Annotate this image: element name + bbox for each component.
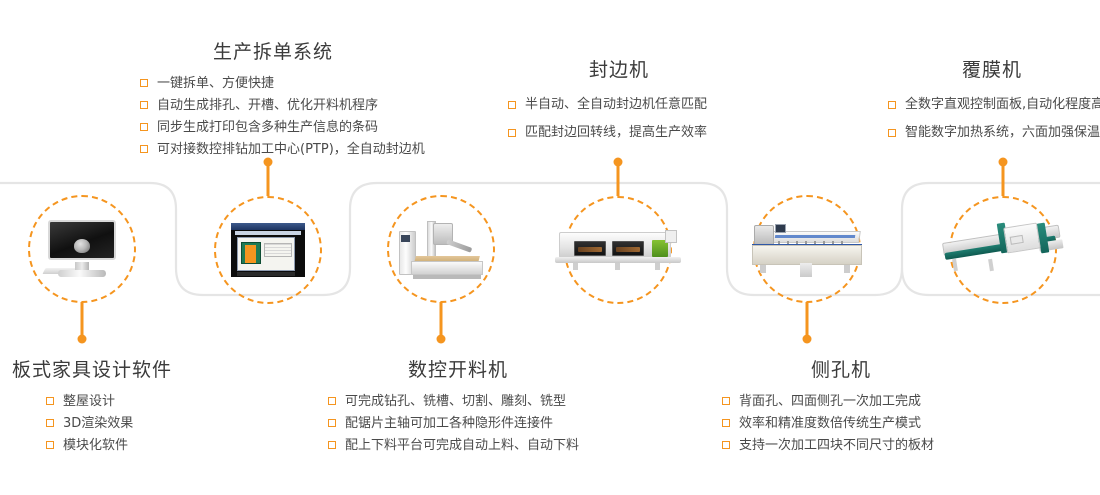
list-item: 自动生成排孔、开槽、优化开料机程序 [140, 95, 418, 117]
list-item: 半自动、全自动封边机任意匹配 [508, 91, 738, 119]
list-item: 支持一次加工四块不同尺寸的板材 [722, 435, 976, 457]
checkbox-icon [888, 129, 896, 137]
list-item: 可对接数控排钻加工中心(PTP)，全自动封边机 [140, 139, 418, 161]
block-side-drilling: 侧孔机 背面孔、四面侧孔一次加工完成 效率和精准度数倍传统生产模式 支持一次加工… [706, 355, 976, 457]
checkbox-icon [722, 397, 730, 405]
feature-list-cnc-cutting: 可完成钻孔、铣槽、切割、雕刻、铣型 配锯片主轴可加工各种隐形件连接件 配上下料平… [318, 391, 598, 457]
checkbox-icon [508, 101, 516, 109]
connector-edge-banding [614, 158, 623, 197]
list-item: 匹配封边回转线，提高生产效率 [508, 119, 738, 147]
block-title-order-splitting: 生产拆单系统 [128, 37, 418, 64]
feature-list-edge-banding: 半自动、全自动封边机任意匹配 匹配封边回转线，提高生产效率 [500, 91, 738, 147]
checkbox-icon [46, 441, 54, 449]
list-item: 可完成钻孔、铣槽、切割、雕刻、铣型 [328, 391, 598, 413]
block-cnc-cutting: 数控开料机 可完成钻孔、铣槽、切割、雕刻、铣型 配锯片主轴可加工各种隐形件连接件… [318, 355, 598, 457]
checkbox-icon [46, 397, 54, 405]
connector-cnc-cutting [437, 302, 446, 344]
checkbox-icon [722, 441, 730, 449]
list-item: 配锯片主轴可加工各种隐形件连接件 [328, 413, 598, 435]
list-item: 全数字直观控制面板,自动化程度高 [888, 91, 1100, 119]
checkbox-icon [328, 419, 336, 427]
list-item: 3D渲染效果 [46, 413, 272, 435]
checkbox-icon [140, 101, 148, 109]
feature-list-laminating: 全数字直观控制面板,自动化程度高 智能数字加热系统，六面加强保温 [884, 91, 1100, 147]
block-title-side-drilling: 侧孔机 [706, 355, 976, 382]
checkbox-icon [140, 79, 148, 87]
connector-side-drilling [803, 302, 812, 344]
block-order-splitting: 生产拆单系统 一键拆单、方便快捷 自动生成排孔、开槽、优化开料机程序 同步生成打… [128, 37, 418, 161]
list-item: 智能数字加热系统，六面加强保温 [888, 119, 1100, 147]
checkbox-icon [888, 101, 896, 109]
block-title-design-software: 板式家具设计软件 [12, 355, 272, 382]
list-item: 背面孔、四面侧孔一次加工完成 [722, 391, 976, 413]
block-title-cnc-cutting: 数控开料机 [318, 355, 598, 382]
list-item: 整屋设计 [46, 391, 272, 413]
connector-laminating [999, 158, 1008, 197]
block-title-laminating: 覆膜机 [884, 55, 1100, 82]
list-item: 同步生成打印包含多种生产信息的条码 [140, 117, 418, 139]
block-design-software: 板式家具设计软件 整屋设计 3D渲染效果 模块化软件 [12, 355, 272, 457]
infographic-canvas: 板式家具设计软件 整屋设计 3D渲染效果 模块化软件 生产拆单系统 一键拆单、方… [0, 0, 1100, 495]
checkbox-icon [46, 419, 54, 427]
feature-list-design-software: 整屋设计 3D渲染效果 模块化软件 [12, 391, 272, 457]
block-title-edge-banding: 封边机 [500, 55, 738, 82]
checkbox-icon [328, 441, 336, 449]
checkbox-icon [722, 419, 730, 427]
list-item: 模块化软件 [46, 435, 272, 457]
list-item: 配上下料平台可完成自动上料、自动下料 [328, 435, 598, 457]
feature-list-side-drilling: 背面孔、四面侧孔一次加工完成 效率和精准度数倍传统生产模式 支持一次加工四块不同… [706, 391, 976, 457]
checkbox-icon [508, 129, 516, 137]
checkbox-icon [328, 397, 336, 405]
list-item: 效率和精准度数倍传统生产模式 [722, 413, 976, 435]
checkbox-icon [140, 145, 148, 153]
list-item: 一键拆单、方便快捷 [140, 73, 418, 95]
block-laminating: 覆膜机 全数字直观控制面板,自动化程度高 智能数字加热系统，六面加强保温 [884, 55, 1100, 147]
feature-list-order-splitting: 一键拆单、方便快捷 自动生成排孔、开槽、优化开料机程序 同步生成打印包含多种生产… [128, 73, 418, 161]
connector-order-splitting [264, 158, 273, 197]
checkbox-icon [140, 123, 148, 131]
block-edge-banding: 封边机 半自动、全自动封边机任意匹配 匹配封边回转线，提高生产效率 [500, 55, 738, 147]
connector-design-software [78, 302, 87, 344]
